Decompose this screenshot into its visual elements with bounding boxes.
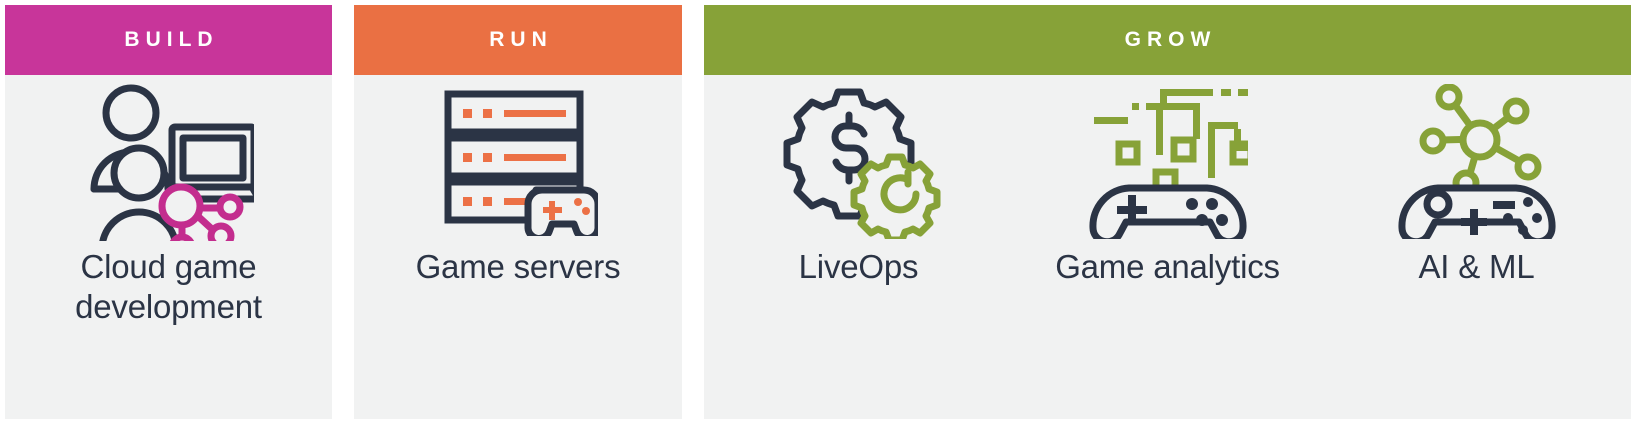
stage-header-build: BUILD: [5, 5, 332, 75]
card-ai-and-ml[interactable]: AI & ML: [1322, 81, 1631, 287]
stage-build: BUILD: [0, 0, 337, 424]
stage-header-run: RUN: [354, 5, 682, 75]
stage-body-run: Game servers: [354, 75, 682, 419]
card-liveops[interactable]: LiveOps: [704, 81, 1013, 287]
neural-network-gamepad-icon: [1328, 81, 1625, 241]
game-tech-stages-board: BUILD: [0, 0, 1636, 438]
card-label-liveops: LiveOps: [799, 247, 919, 287]
card-label-cloud-game-development: Cloud game development: [44, 247, 294, 328]
card-label-game-servers: Game servers: [416, 247, 621, 287]
circuit-gamepad-icon: [1019, 81, 1316, 241]
people-laptop-network-icon: [11, 81, 326, 241]
server-racks-gamepad-icon: [360, 81, 676, 241]
stage-body-build: Cloud game development: [5, 75, 332, 419]
card-cloud-game-development[interactable]: Cloud game development: [5, 81, 332, 328]
card-game-servers[interactable]: Game servers: [354, 81, 682, 287]
stage-run: RUN: [349, 0, 687, 424]
dollar-gear-refresh-gear-icon: [710, 81, 1007, 241]
card-label-ai-and-ml: AI & ML: [1419, 247, 1535, 287]
stage-header-grow: GROW: [704, 5, 1631, 75]
stage-body-grow: LiveOps: [704, 75, 1631, 419]
card-label-game-analytics: Game analytics: [1055, 247, 1280, 287]
stage-grow: GROW: [699, 0, 1636, 424]
card-game-analytics[interactable]: Game analytics: [1013, 81, 1322, 287]
